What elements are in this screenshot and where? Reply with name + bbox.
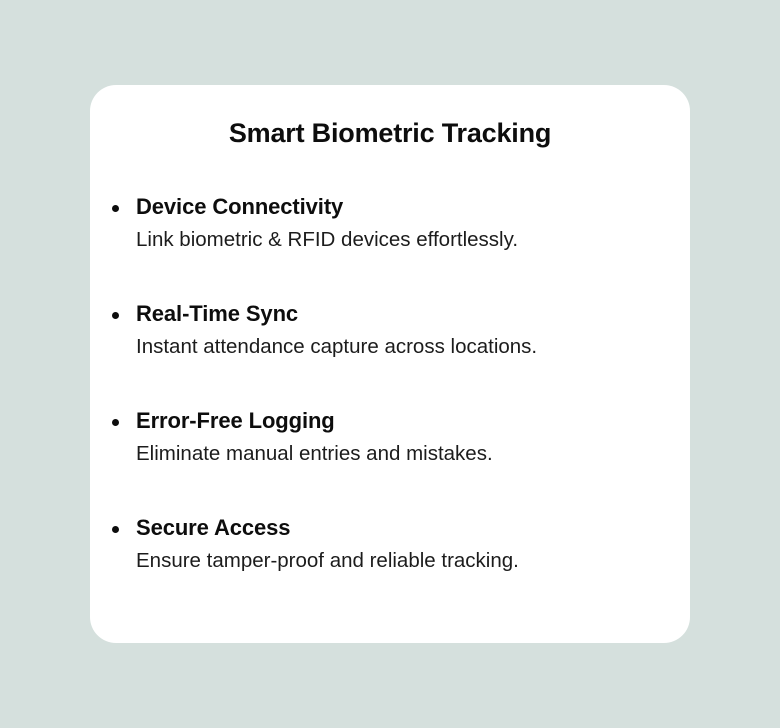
feature-heading: Real-Time Sync: [136, 295, 690, 328]
list-item: Real-Time Sync Instant attendance captur…: [90, 295, 690, 402]
feature-list: Device Connectivity Link biometric & RFI…: [90, 188, 690, 616]
page-title: Smart Biometric Tracking: [90, 117, 690, 149]
feature-description: Instant attendance capture across locati…: [136, 328, 690, 361]
feature-heading: Error-Free Logging: [136, 402, 690, 435]
list-item: Device Connectivity Link biometric & RFI…: [90, 188, 690, 295]
feature-heading: Secure Access: [136, 509, 690, 542]
bullet-dot-icon: [112, 419, 119, 426]
feature-description: Ensure tamper-proof and reliable trackin…: [136, 542, 690, 575]
bullet-dot-icon: [112, 526, 119, 533]
bullet-dot-icon: [112, 312, 119, 319]
bullet-dot-icon: [112, 205, 119, 212]
feature-card: Smart Biometric Tracking Device Connecti…: [90, 85, 690, 643]
page-background: Smart Biometric Tracking Device Connecti…: [0, 0, 780, 728]
feature-description: Link biometric & RFID devices effortless…: [136, 221, 690, 254]
feature-description: Eliminate manual entries and mistakes.: [136, 435, 690, 468]
feature-heading: Device Connectivity: [136, 188, 690, 221]
list-item: Secure Access Ensure tamper-proof and re…: [90, 509, 690, 616]
list-item: Error-Free Logging Eliminate manual entr…: [90, 402, 690, 509]
